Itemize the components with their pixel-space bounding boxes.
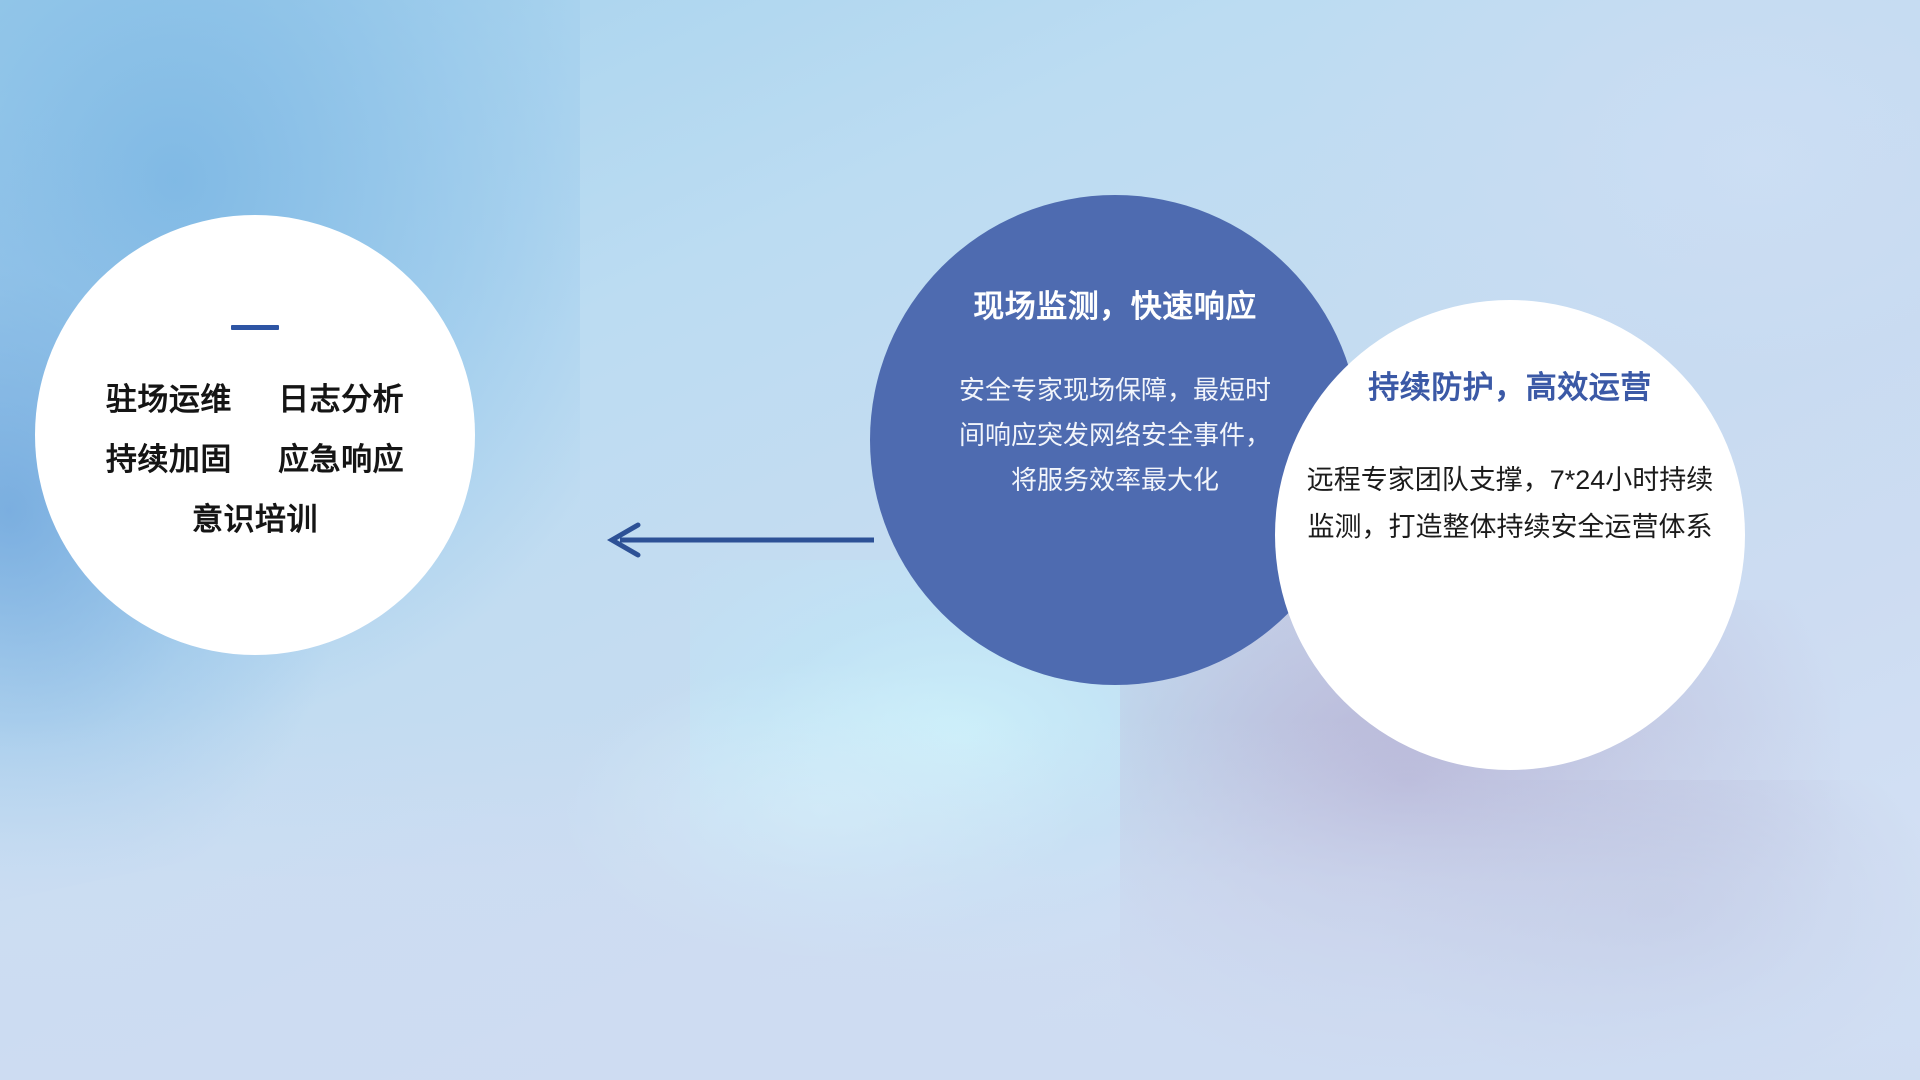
capability-circle-left[interactable]: 驻场运维 日志分析 持续加固 应急响应 意识培训 [35, 215, 475, 655]
capability-keyword-list: 驻场运维 日志分析 持续加固 应急响应 意识培训 [106, 370, 404, 550]
capability-keyword: 日志分析 [278, 370, 404, 430]
center-circle-title: 现场监测，快速响应 [973, 281, 1257, 326]
capability-keyword-row: 持续加固 应急响应 [106, 430, 404, 490]
capability-keyword-row: 意识培训 [106, 490, 404, 550]
right-circle-title: 持续防护，高效运营 [1368, 362, 1652, 407]
capability-keyword: 驻场运维 [106, 370, 232, 430]
capability-circle-right[interactable]: 持续防护，高效运营 远程专家团队支撑，7*24小时持续监测，打造整体持续安全运营… [1275, 300, 1745, 770]
right-circle-body: 远程专家团队支撑，7*24小时持续监测，打造整体持续安全运营体系 [1300, 457, 1720, 551]
background-bottom-fade [0, 720, 1920, 1080]
capability-keyword: 应急响应 [278, 430, 404, 490]
capability-keyword: 意识培训 [192, 490, 318, 550]
arrow-left-icon [598, 515, 878, 565]
center-circle-body: 安全专家现场保障，最短时间响应突发网络安全事件，将服务效率最大化 [950, 368, 1280, 503]
capability-keyword: 持续加固 [106, 430, 232, 490]
capability-keyword-row: 驻场运维 日志分析 [106, 370, 404, 430]
divider-dash [231, 325, 279, 330]
slide-canvas: 驻场运维 日志分析 持续加固 应急响应 意识培训 现场监测，快速响应 安全专家现… [0, 0, 1920, 1080]
